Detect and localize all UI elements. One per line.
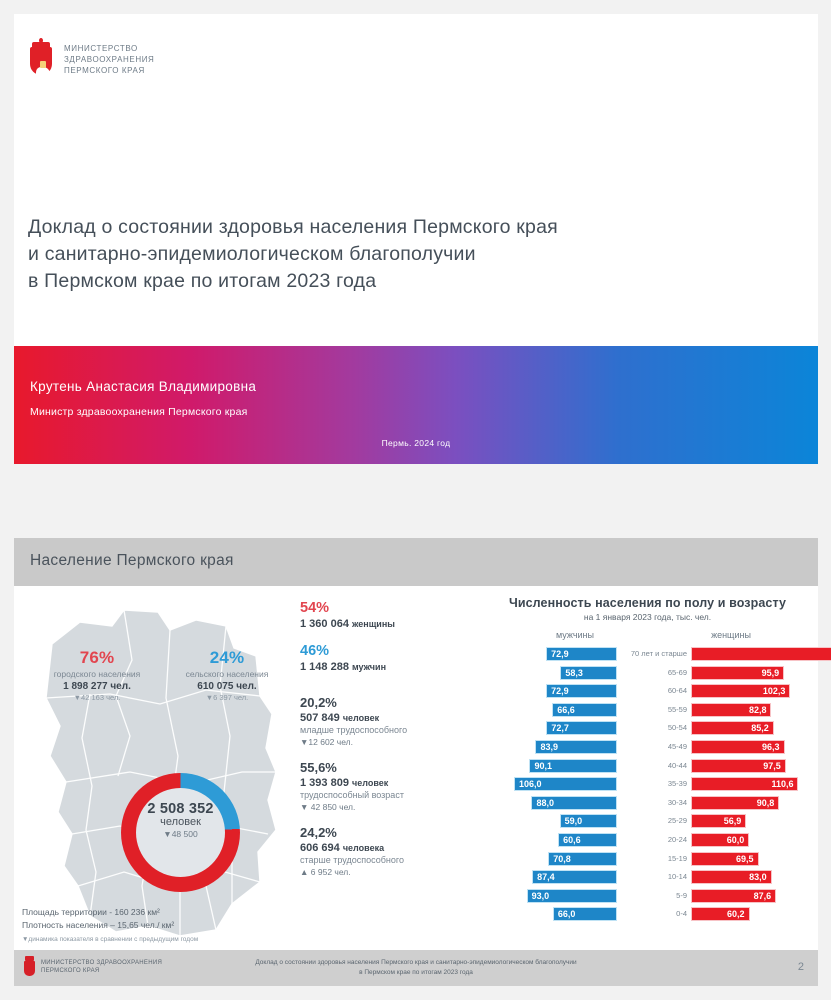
age-group-label: 55-59 bbox=[615, 704, 687, 716]
pyramid-row: 83,945-4996,3 bbox=[480, 739, 815, 758]
population-pyramid-chart: Численность населения по полу и возрасту… bbox=[480, 596, 815, 925]
stat-working-delta: ▼ 42 850 чел. bbox=[300, 802, 480, 812]
pyramid-row: 72,970 лет и старше181,3 bbox=[480, 646, 815, 665]
bar-women: 90,8 bbox=[691, 796, 779, 810]
age-group-label: 60-64 bbox=[615, 685, 687, 697]
bar-men: 72,7 bbox=[546, 721, 617, 735]
pyramid-row: 106,035-39110,6 bbox=[480, 776, 815, 795]
coat-of-arms-icon bbox=[28, 36, 54, 82]
age-group-label: 25-29 bbox=[615, 815, 687, 827]
density-line: Плотность населения – 15,65 чел./ км² bbox=[22, 919, 174, 932]
chart-subtitle: на 1 января 2023 года, тыс. чел. bbox=[480, 612, 815, 622]
stat-working-value: 1 393 809 человек bbox=[300, 777, 480, 789]
stat-women-percent: 54% bbox=[300, 600, 480, 616]
dynamics-footnote: ▼динамика показателя в сравнении с преды… bbox=[22, 936, 198, 943]
population-stats-column: 54% 1 360 064 женщины 46% 1 148 288 мужч… bbox=[300, 600, 480, 890]
population-slide: Население Пермского края 76% городског bbox=[14, 538, 818, 986]
bar-women: 85,2 bbox=[691, 721, 774, 735]
pyramid-row: 72,960-64102,3 bbox=[480, 683, 815, 702]
stat-working-sub: трудоспособный возраст bbox=[300, 790, 480, 800]
age-group-label: 0-4 bbox=[615, 908, 687, 920]
urban-population-stat: 76% городского населения 1 898 277 чел. … bbox=[32, 648, 162, 702]
urban-delta: ▼42 163 чел. bbox=[32, 693, 162, 702]
age-group-label: 65-69 bbox=[615, 667, 687, 679]
total-population-unit: человек bbox=[121, 816, 240, 828]
rural-population-stat: 24% сельского населения 610 075 чел. ▼6 … bbox=[162, 648, 292, 702]
rural-caption: сельского населения bbox=[162, 669, 292, 679]
bar-women: 87,6 bbox=[691, 889, 776, 903]
bar-men: 106,0 bbox=[514, 777, 617, 791]
age-group-label: 45-49 bbox=[615, 741, 687, 753]
stat-working-percent: 55,6% bbox=[300, 760, 480, 775]
stat-below-delta: ▼12 602 чел. bbox=[300, 737, 480, 747]
pyramid-row: 88,030-3490,8 bbox=[480, 795, 815, 814]
rural-percent: 24% bbox=[162, 648, 292, 668]
pyramid-row: 66,00-460,2 bbox=[480, 906, 815, 925]
bar-women: 102,3 bbox=[691, 684, 790, 698]
age-group-label: 50-54 bbox=[615, 722, 687, 734]
stat-men: 46% 1 148 288 мужчин bbox=[300, 643, 480, 673]
bar-women: 56,9 bbox=[691, 814, 746, 828]
bar-women: 181,3 bbox=[691, 647, 831, 661]
bar-men: 87,4 bbox=[532, 870, 617, 884]
bar-men: 72,9 bbox=[546, 684, 617, 698]
bar-men: 70,8 bbox=[548, 852, 617, 866]
age-group-label: 20-24 bbox=[615, 834, 687, 846]
pyramid-row: 58,365-6995,9 bbox=[480, 665, 815, 684]
age-group-label: 40-44 bbox=[615, 760, 687, 772]
stat-women: 54% 1 360 064 женщины bbox=[300, 600, 480, 630]
bar-men: 58,3 bbox=[560, 666, 617, 680]
pyramid-row: 60,620-2460,0 bbox=[480, 832, 815, 851]
territory-info: Площадь территории - 160 236 км² Плотнос… bbox=[22, 906, 174, 932]
slide-header-bar: Население Пермского края bbox=[14, 538, 818, 586]
urban-caption: городского населения bbox=[32, 669, 162, 679]
stat-below-sub: младше трудоспособного bbox=[300, 725, 480, 735]
bar-women: 83,0 bbox=[691, 870, 772, 884]
stat-above-value: 606 694 человека bbox=[300, 842, 480, 854]
age-group-label: 30-34 bbox=[615, 797, 687, 809]
stat-above-sub: старше трудоспособного bbox=[300, 855, 480, 865]
stat-above-working-age: 24,2% 606 694 человека старше трудоспосо… bbox=[300, 825, 480, 877]
stat-women-unit: женщины bbox=[352, 619, 395, 629]
ministry-logo: МИНИСТЕРСТВО ЗДРАВООХРАНЕНИЯ ПЕРМСКОГО К… bbox=[28, 36, 154, 82]
pyramid-row: 72,750-5485,2 bbox=[480, 720, 815, 739]
bar-women: 110,6 bbox=[691, 777, 798, 791]
stat-working-unit: человек bbox=[352, 778, 388, 788]
pyramid-row: 70,815-1969,5 bbox=[480, 851, 815, 870]
age-group-label: 5-9 bbox=[615, 890, 687, 902]
legend-women: женщины bbox=[676, 630, 786, 640]
urban-percent: 76% bbox=[32, 648, 162, 668]
bar-men: 60,6 bbox=[558, 833, 617, 847]
bar-women: 97,5 bbox=[691, 759, 786, 773]
speaker-role: Министр здравоохранения Пермского края bbox=[30, 406, 248, 418]
stat-below-unit: человек bbox=[343, 713, 379, 723]
total-population-value: 2 508 352 bbox=[121, 801, 240, 817]
pyramid-row: 87,410-1483,0 bbox=[480, 869, 815, 888]
bar-men: 88,0 bbox=[531, 796, 617, 810]
speaker-name: Крутень Анастасия Владимировна bbox=[30, 379, 256, 394]
stat-above-percent: 24,2% bbox=[300, 825, 480, 840]
pyramid-row: 93,05-987,6 bbox=[480, 888, 815, 907]
page-number: 2 bbox=[798, 961, 804, 973]
stat-above-unit: человека bbox=[343, 843, 384, 853]
age-group-label: 15-19 bbox=[615, 853, 687, 865]
age-group-label: 35-39 bbox=[615, 778, 687, 790]
stat-below-working-age: 20,2% 507 849 человек младше трудоспособ… bbox=[300, 695, 480, 747]
chart-title: Численность населения по полу и возрасту bbox=[480, 596, 815, 610]
stat-below-number: 507 849 bbox=[300, 712, 340, 724]
ministry-logo-text: МИНИСТЕРСТВО ЗДРАВООХРАНЕНИЯ ПЕРМСКОГО К… bbox=[64, 43, 154, 76]
bar-women: 82,8 bbox=[691, 703, 771, 717]
stat-below-value: 507 849 человек bbox=[300, 712, 480, 724]
area-line: Площадь территории - 160 236 км² bbox=[22, 906, 174, 919]
stat-men-number: 1 148 288 bbox=[300, 661, 349, 673]
bar-men: 66,6 bbox=[552, 703, 617, 717]
bar-men: 83,9 bbox=[535, 740, 617, 754]
stat-women-number: 1 360 064 bbox=[300, 618, 349, 630]
bar-women: 69,5 bbox=[691, 852, 759, 866]
stat-men-unit: мужчин bbox=[352, 662, 386, 672]
legend-men: мужчины bbox=[520, 630, 630, 640]
city-year: Пермь. 2024 год bbox=[14, 438, 818, 448]
stat-above-delta: ▲ 6 952 чел. bbox=[300, 867, 480, 877]
rural-value: 610 075 чел. bbox=[162, 681, 292, 692]
page-title: Доклад о состоянии здоровья населения Пе… bbox=[28, 214, 558, 295]
bar-men: 90,1 bbox=[529, 759, 617, 773]
chart-legend: мужчины женщины bbox=[480, 630, 815, 646]
bar-women: 60,0 bbox=[691, 833, 749, 847]
age-group-label: 10-14 bbox=[615, 871, 687, 883]
speaker-gradient-banner: Крутень Анастасия Владимировна Министр з… bbox=[14, 346, 818, 464]
urban-value: 1 898 277 чел. bbox=[32, 681, 162, 692]
stat-below-percent: 20,2% bbox=[300, 695, 480, 710]
stat-men-value: 1 148 288 мужчин bbox=[300, 661, 480, 673]
age-group-label: 70 лет и старше bbox=[615, 648, 687, 660]
total-population-donut: 2 508 352 человек ▼48 500 bbox=[121, 773, 240, 892]
donut-label: 2 508 352 человек ▼48 500 bbox=[121, 801, 240, 839]
rural-delta: ▼6 397 чел. bbox=[162, 693, 292, 702]
stat-working-age: 55,6% 1 393 809 человек трудоспособный в… bbox=[300, 760, 480, 812]
bar-women: 60,2 bbox=[691, 907, 750, 921]
bar-men: 59,0 bbox=[560, 814, 617, 828]
bar-men: 72,9 bbox=[546, 647, 617, 661]
pyramid-row: 66,655-5982,8 bbox=[480, 702, 815, 721]
pyramid-row: 90,140-4497,5 bbox=[480, 758, 815, 777]
bar-men: 66,0 bbox=[553, 907, 617, 921]
slide-footer: МИНИСТЕРСТВО ЗДРАВООХРАНЕНИЯ ПЕРМСКОГО К… bbox=[14, 950, 818, 986]
stat-above-number: 606 694 bbox=[300, 842, 340, 854]
slide-header-title: Население Пермского края bbox=[30, 552, 234, 570]
pyramid-row: 59,025-2956,9 bbox=[480, 813, 815, 832]
title-slide: МИНИСТЕРСТВО ЗДРАВООХРАНЕНИЯ ПЕРМСКОГО К… bbox=[14, 14, 818, 464]
stat-men-percent: 46% bbox=[300, 643, 480, 659]
stat-women-value: 1 360 064 женщины bbox=[300, 618, 480, 630]
total-population-delta: ▼48 500 bbox=[121, 829, 240, 839]
stat-working-number: 1 393 809 bbox=[300, 777, 349, 789]
bar-women: 95,9 bbox=[691, 666, 784, 680]
bar-women: 96,3 bbox=[691, 740, 785, 754]
footer-report-title: Доклад о состоянии здоровья населения Пе… bbox=[14, 958, 818, 978]
bar-men: 93,0 bbox=[527, 889, 617, 903]
chart-rows: 72,970 лет и старше181,358,365-6995,972,… bbox=[480, 646, 815, 925]
